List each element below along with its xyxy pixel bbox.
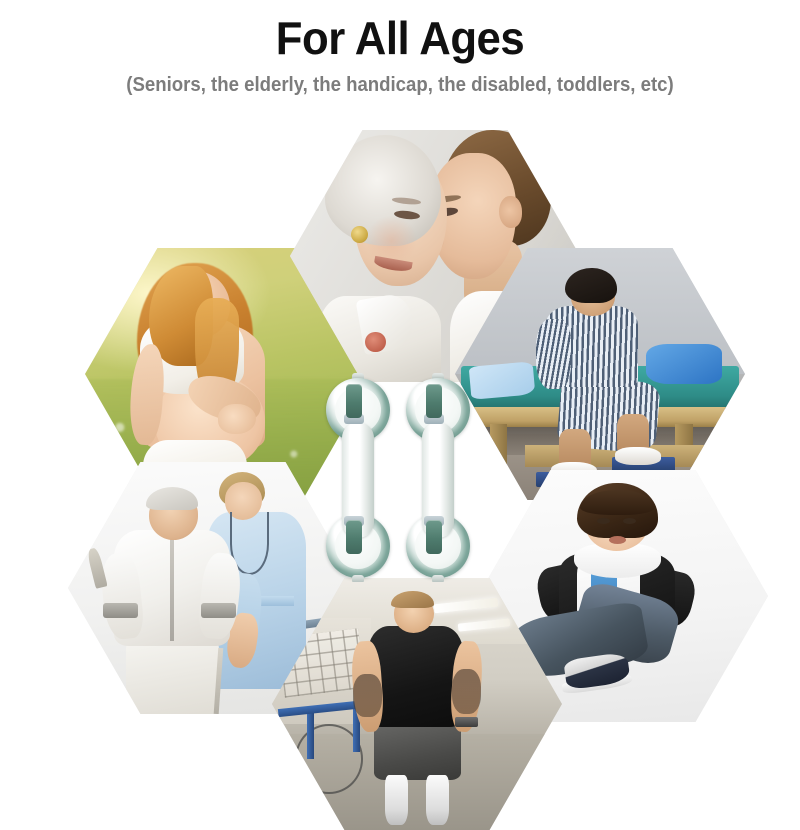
younger-woman-ear — [499, 196, 522, 229]
patient-shoe-right — [615, 447, 661, 465]
lock-lever-bottom — [426, 520, 442, 554]
toddler-eye-left — [597, 518, 610, 524]
crutch-cuff-right — [201, 603, 236, 618]
crutch-cuff-left — [103, 603, 138, 618]
lock-lever-bottom — [346, 520, 362, 554]
patient-hair — [565, 268, 617, 303]
cup-valve-bottom — [352, 575, 364, 582]
lock-lever-top — [346, 384, 362, 418]
grab-bar-left — [322, 378, 394, 578]
towel-dark-blue — [646, 344, 721, 384]
wristwatch — [455, 717, 478, 727]
bed-leg-left — [490, 424, 507, 469]
lock-lever-top — [426, 384, 442, 418]
patient-trousers — [126, 638, 219, 714]
grab-bar-right — [402, 378, 474, 578]
toddler-fringe — [580, 490, 655, 515]
jacket-zipper — [170, 535, 175, 641]
handle-highlight — [349, 430, 356, 530]
cup-valve-bottom — [432, 575, 444, 582]
handle-highlight — [429, 430, 436, 530]
brooch — [365, 332, 385, 352]
rail-post-left — [307, 709, 314, 759]
grey-shorts — [374, 719, 461, 779]
pajama-sleeve — [536, 319, 571, 390]
product-image-grab-bars — [320, 378, 480, 578]
tattoo-left — [353, 674, 382, 717]
toddler-mouth — [609, 536, 626, 544]
toddler-eye-right — [623, 518, 636, 524]
tattoo-right — [452, 669, 481, 714]
patient-hair — [146, 487, 198, 510]
